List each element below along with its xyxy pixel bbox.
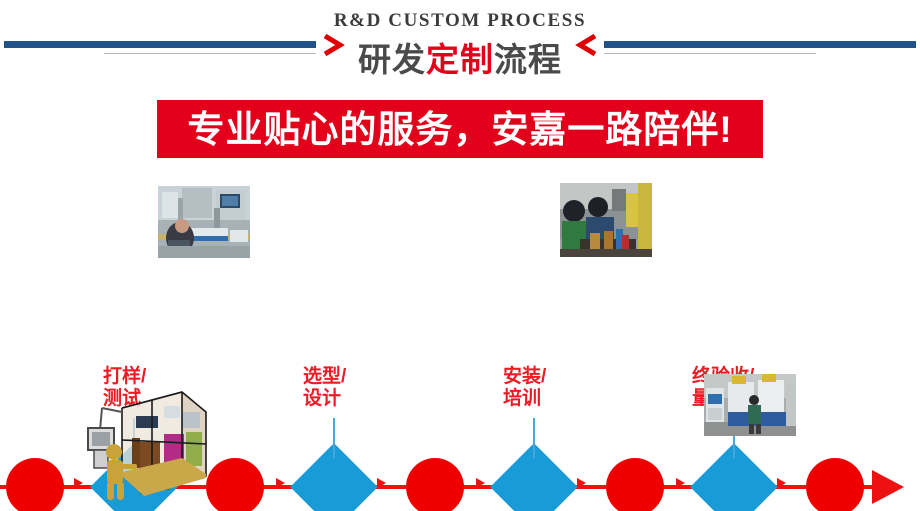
header: R&D CUSTOM PROCESS 研发定制流程 <box>0 0 920 88</box>
flow-connector-arrow-icon <box>377 478 386 488</box>
illustration-machine-enclosure-cad <box>78 372 210 502</box>
header-title-accent: 定制 <box>426 41 494 78</box>
flow-label-installation: 安装/ 培训 <box>503 366 546 411</box>
photo-prototype-test <box>158 186 250 258</box>
flow-axis-arrowhead-icon <box>872 470 904 504</box>
flow-connector-arrow-icon <box>577 478 586 488</box>
slide-canvas: R&D CUSTOM PROCESS 研发定制流程 专业贴心的服务，安嘉一路陪伴… <box>0 0 920 511</box>
slogan-banner: 专业贴心的服务，安嘉一路陪伴! <box>157 100 763 158</box>
flow-connector-arrow-icon <box>676 478 685 488</box>
flow-connector-installation <box>533 418 535 458</box>
photo-installation-training <box>560 183 652 257</box>
flow-label-selection-line1: 选型/ <box>303 366 346 388</box>
header-chinese-title: 研发定制流程 <box>0 33 920 81</box>
flow-connector-arrow-icon <box>276 478 285 488</box>
flow-node-manufacture[interactable] <box>406 458 464 511</box>
flow-node-after-sales[interactable] <box>806 458 864 511</box>
flow-connector-selection <box>333 418 335 458</box>
flow-label-selection: 选型/ 设计 <box>303 366 346 411</box>
header-title-part2: 流程 <box>494 41 562 78</box>
flow-node-proposal[interactable] <box>206 458 264 511</box>
flow-node-pre-acceptance[interactable] <box>606 458 664 511</box>
header-title-part1: 研发 <box>358 41 426 78</box>
flow-connector-arrow-icon <box>777 478 786 488</box>
flow-node-need[interactable] <box>6 458 64 511</box>
flow-label-selection-line2: 设计 <box>303 388 346 410</box>
slogan-text: 专业贴心的服务，安嘉一路陪伴! <box>187 111 732 148</box>
flow-connector-arrow-icon <box>476 478 485 488</box>
photo-after-sales-machines <box>704 374 796 436</box>
flow-label-installation-line1: 安装/ <box>503 366 546 388</box>
flow-label-installation-line2: 培训 <box>503 388 546 410</box>
header-english-title: R&D CUSTOM PROCESS <box>0 10 920 32</box>
